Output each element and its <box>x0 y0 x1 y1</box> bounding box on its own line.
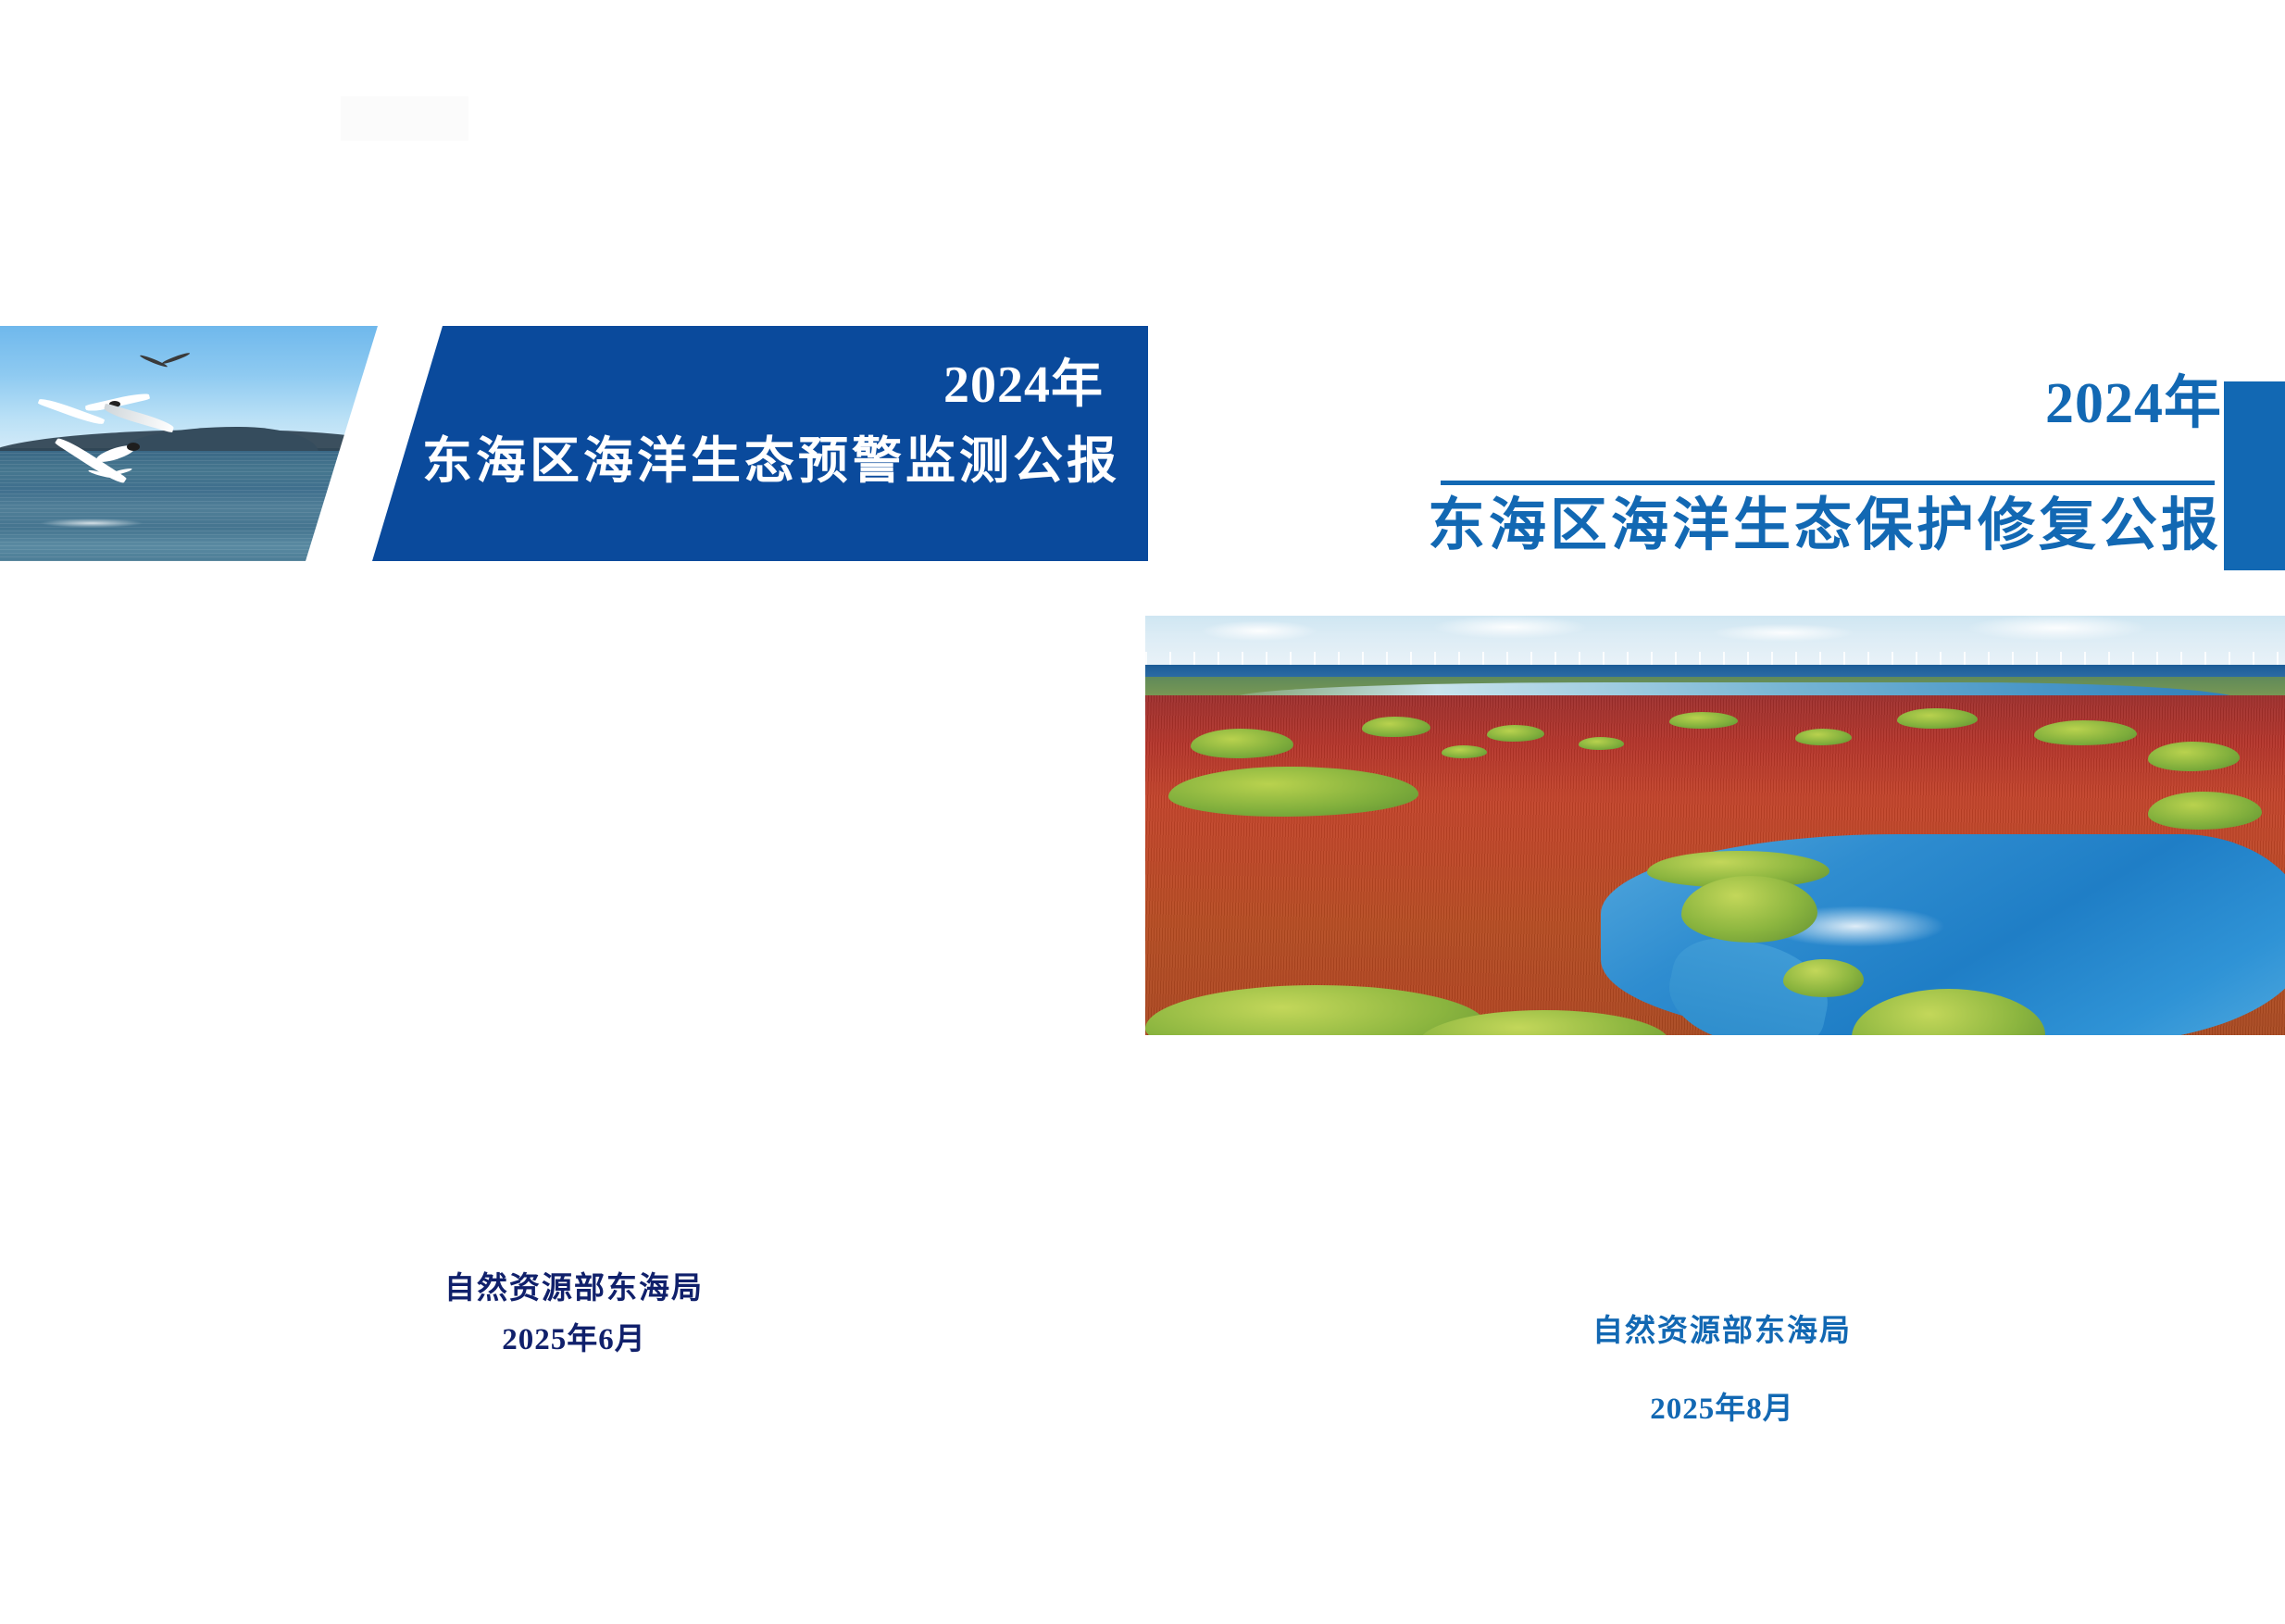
left-cover-footer: 自然资源部东海局 2025年6月 <box>185 1268 963 1360</box>
wetland-reed-island <box>1681 876 1818 943</box>
wetland-green-tuft <box>1897 708 1977 730</box>
wetland-clouds <box>1145 616 2285 654</box>
wetland-green-tuft <box>2148 742 2239 771</box>
left-cover-year: 2024年 <box>372 359 1104 411</box>
left-footer-date: 2025年6月 <box>185 1319 963 1361</box>
left-cover-banner: 2024年 东海区海洋生态预警监测公报 <box>0 326 1148 561</box>
document-page: 2024年 东海区海洋生态预警监测公报 自然资源部东海局 2025年6月 202… <box>0 0 2285 1624</box>
right-accent-bar <box>2224 381 2285 570</box>
right-footer-date: 2025年8月 <box>1333 1388 2111 1430</box>
wetland-green-tuft <box>1362 717 1430 738</box>
wetland-green-tuft <box>1442 745 1487 758</box>
photo-sea-foam <box>40 518 144 528</box>
wetland-green-tuft <box>1487 725 1544 742</box>
faint-watermark-rect <box>341 96 468 141</box>
wetland-green-tuft <box>1168 767 1419 817</box>
left-footer-organization: 自然资源部东海局 <box>185 1268 963 1310</box>
right-title-rule <box>1441 481 2215 485</box>
left-title-slab: 2024年 东海区海洋生态预警监测公报 <box>372 326 1148 561</box>
wetland-green-tuft <box>1579 737 1624 750</box>
wetland-reed-island <box>1783 959 1863 997</box>
right-cover-photo <box>1145 616 2285 1035</box>
right-footer-organization: 自然资源部东海局 <box>1333 1310 2111 1353</box>
tern-bird-icon <box>88 467 131 480</box>
tern-bird-icon <box>139 352 191 369</box>
left-cover-title: 东海区海洋生态预警监测公报 <box>372 433 1120 489</box>
wetland-green-tuft <box>2148 792 2262 830</box>
wetland-green-tuft <box>1191 729 1293 758</box>
right-cover-year: 2024年 <box>1389 375 2222 432</box>
right-cover-footer: 自然资源部东海局 2025年8月 <box>1333 1310 2111 1430</box>
right-cover-title: 东海区海洋生态保护修复公报 <box>1389 494 2222 558</box>
